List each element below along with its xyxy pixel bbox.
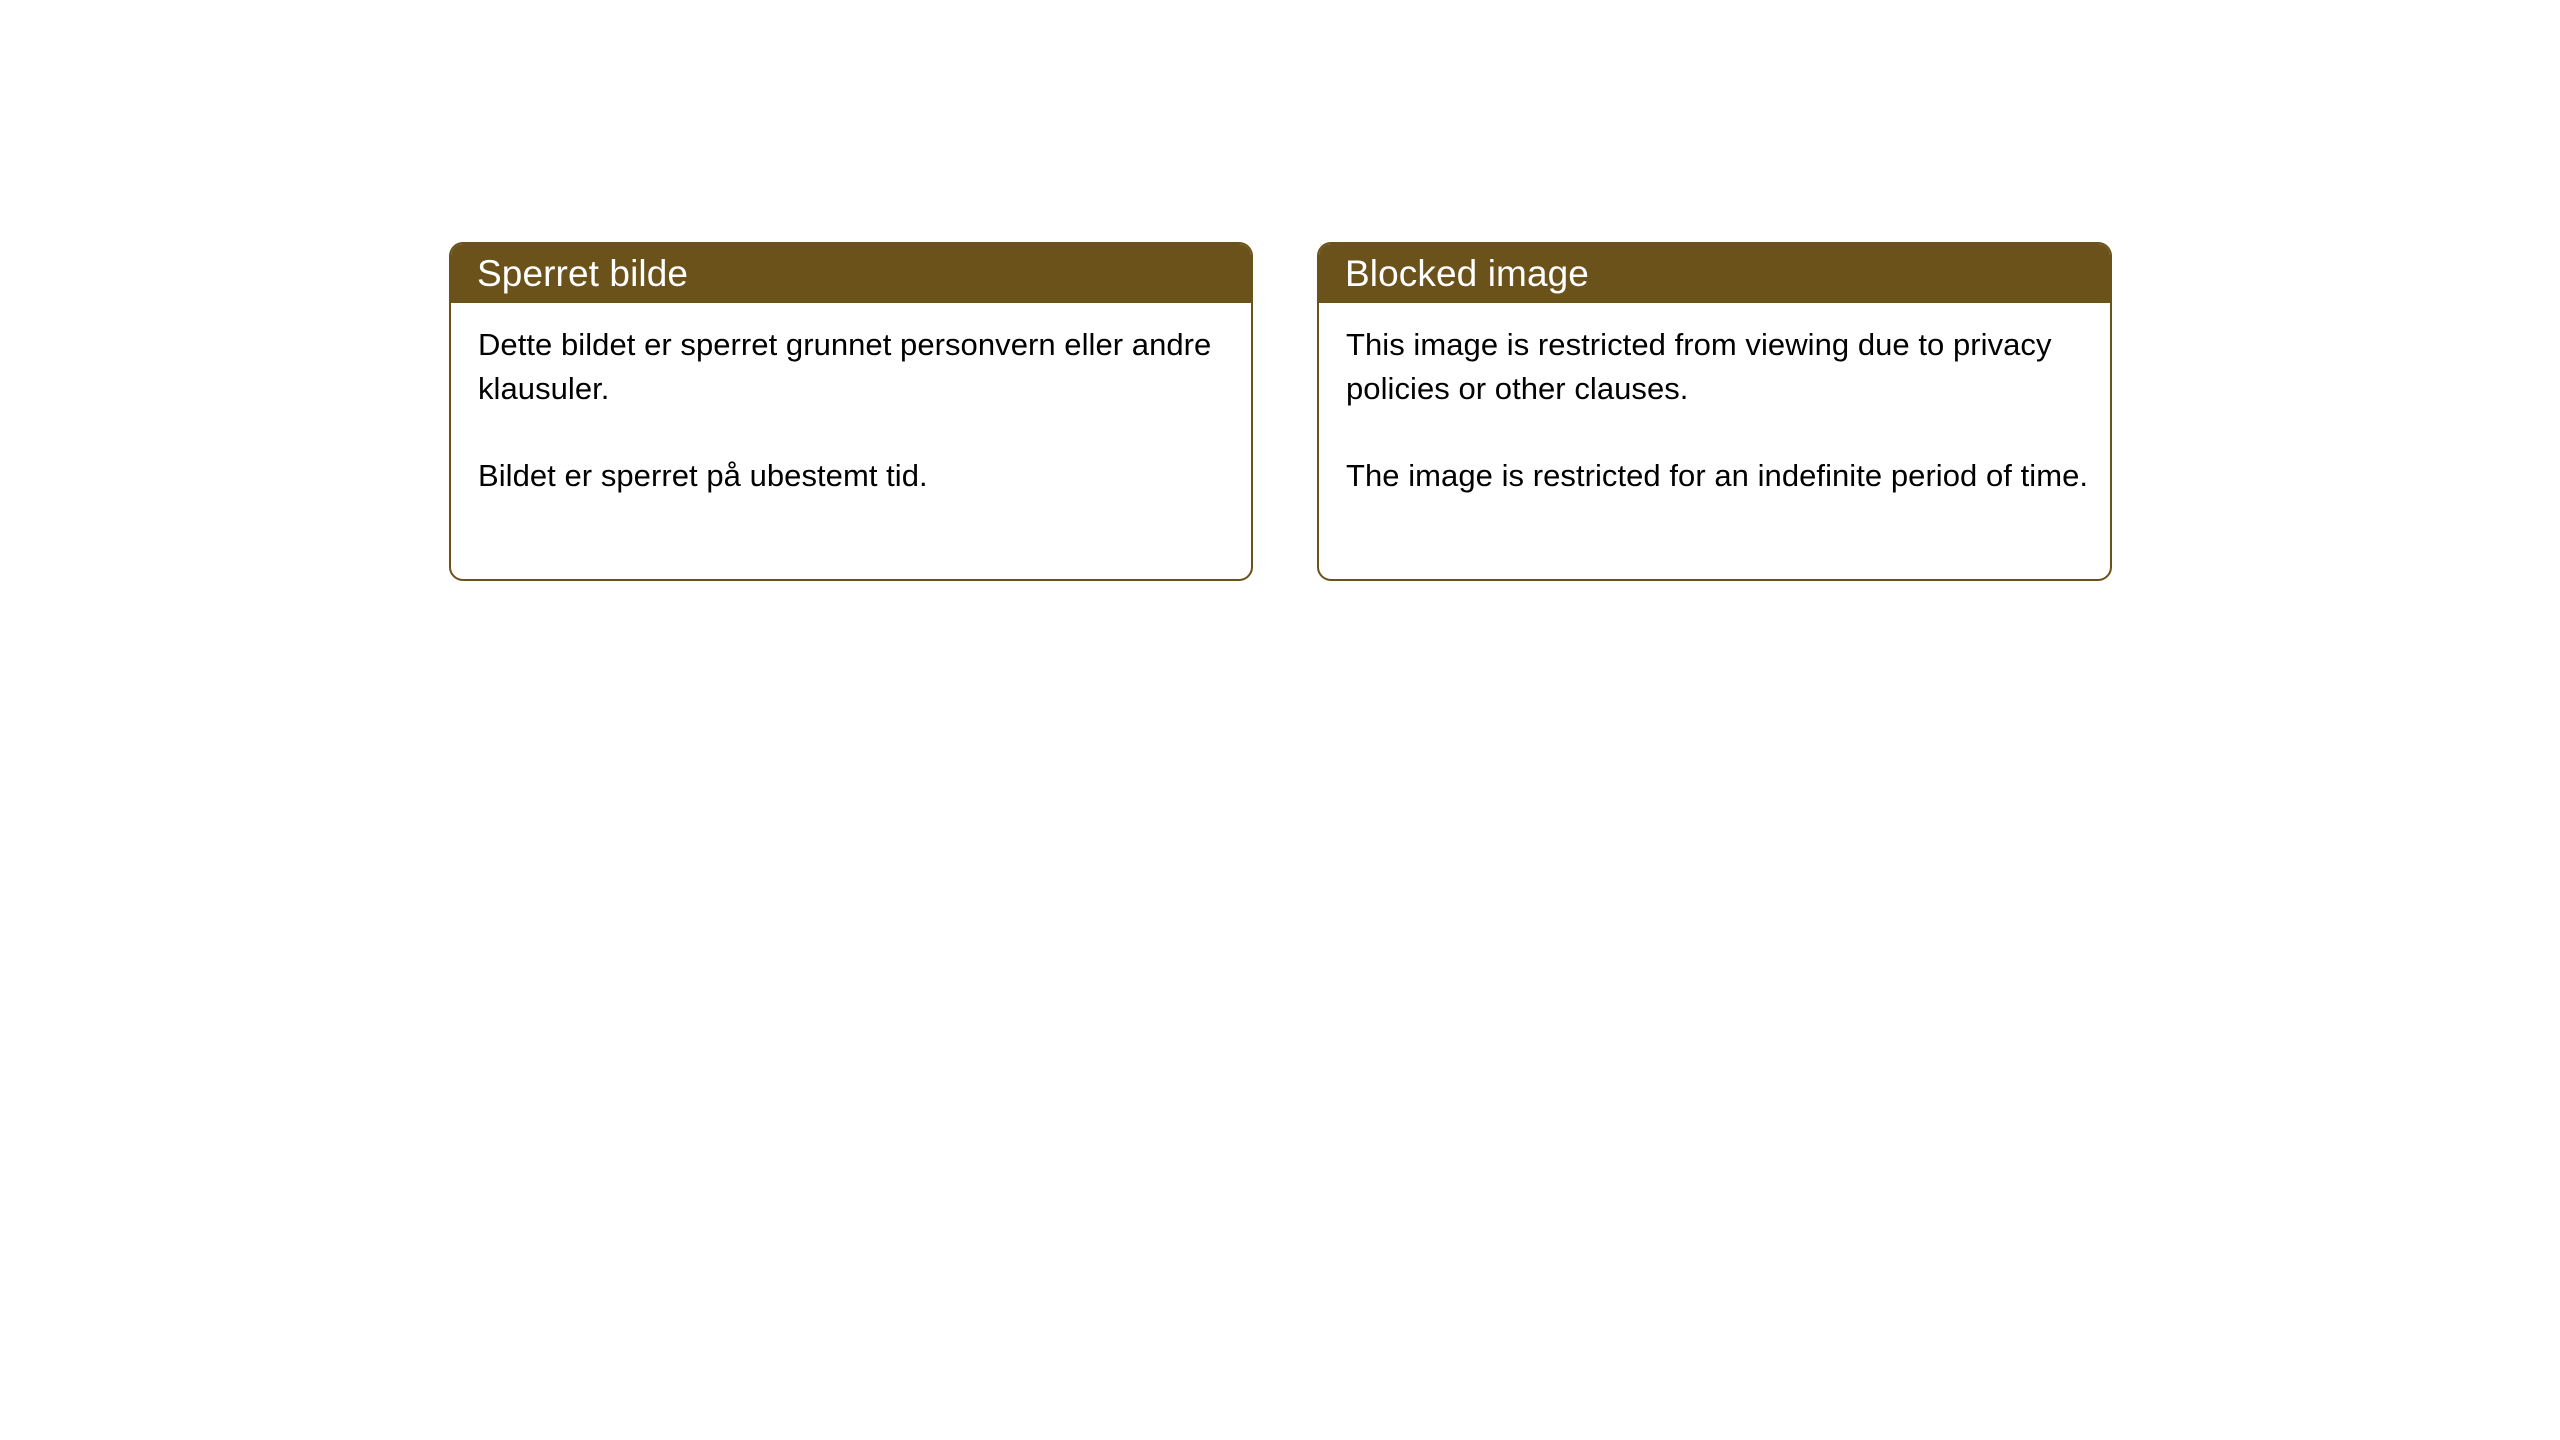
blocked-image-notice-card-english: Blocked image This image is restricted f… — [1317, 242, 2112, 581]
card-paragraph-privacy-english: This image is restricted from viewing du… — [1346, 323, 2090, 411]
card-paragraph-privacy-norwegian: Dette bildet er sperret grunnet personve… — [478, 323, 1231, 411]
card-header-norwegian: Sperret bilde — [451, 244, 1251, 303]
card-body-english: This image is restricted from viewing du… — [1319, 303, 2110, 498]
card-paragraph-duration-english: The image is restricted for an indefinit… — [1346, 454, 2090, 498]
page-canvas: Sperret bilde Dette bildet er sperret gr… — [0, 0, 2560, 1440]
card-header-english: Blocked image — [1319, 244, 2110, 303]
card-title-english: Blocked image — [1345, 254, 1589, 294]
card-body-norwegian: Dette bildet er sperret grunnet personve… — [451, 303, 1251, 498]
card-paragraph-duration-norwegian: Bildet er sperret på ubestemt tid. — [478, 454, 1231, 498]
blocked-image-notice-card-norwegian: Sperret bilde Dette bildet er sperret gr… — [449, 242, 1253, 581]
card-title-norwegian: Sperret bilde — [477, 254, 688, 294]
